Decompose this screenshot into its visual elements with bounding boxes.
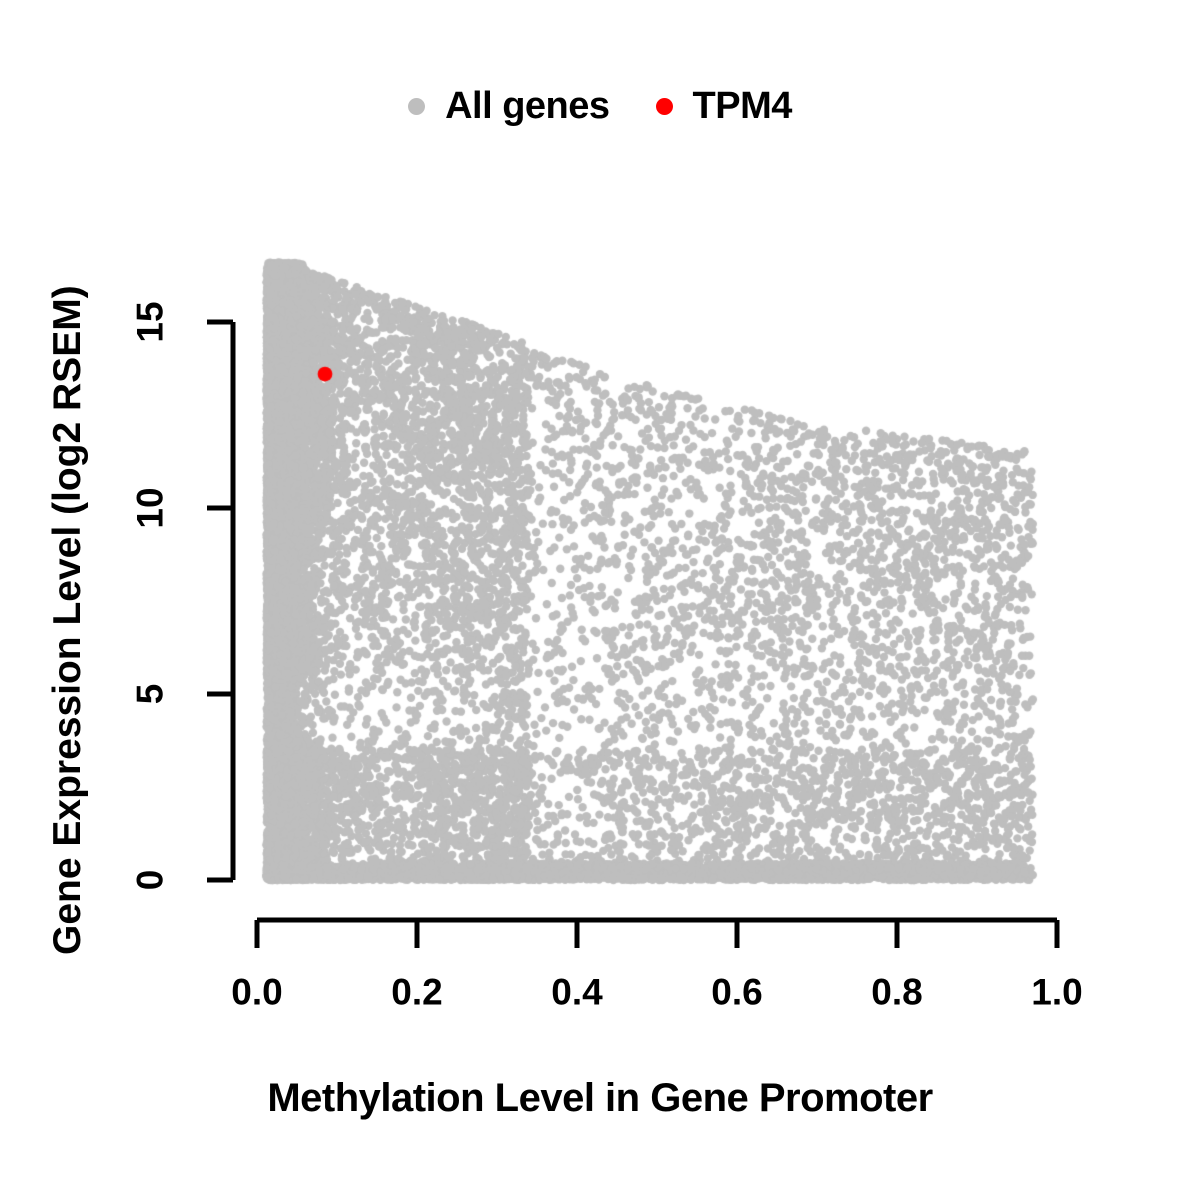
scatter-plot-figure: All genes TPM4: [0, 0, 1200, 1200]
scatter-point-cloud: [0, 0, 1200, 1200]
